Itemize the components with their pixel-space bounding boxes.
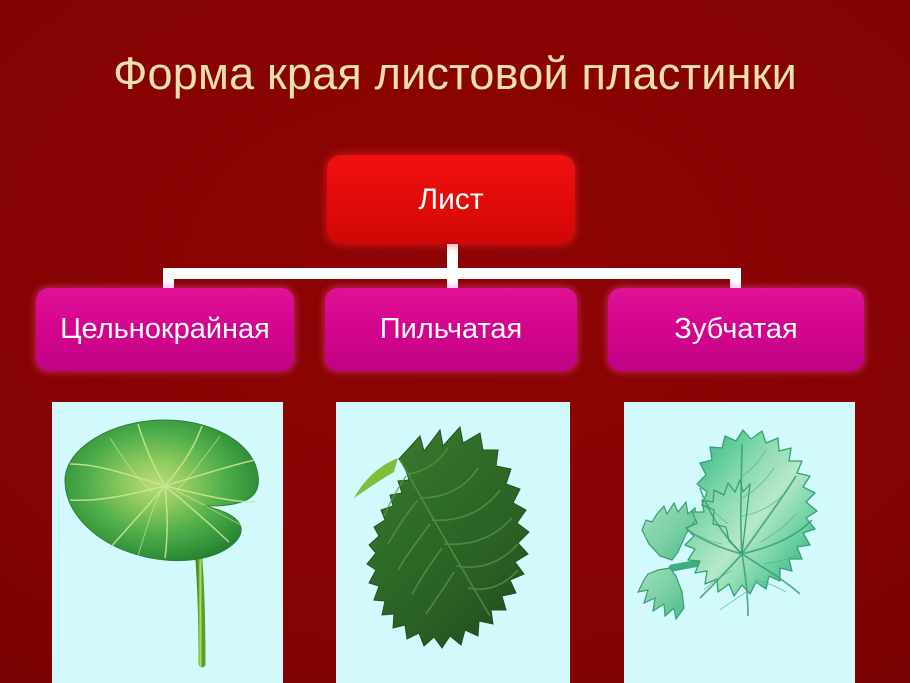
leaf-photo-dentate — [624, 402, 855, 683]
mallow-leaf-dentate-margin-image — [624, 402, 855, 683]
diagram-node-root[interactable]: Лист — [327, 155, 575, 244]
diagram-node-root-label: Лист — [418, 183, 483, 217]
leaf-photo-entire — [52, 402, 283, 683]
diagram-node-dentate-label: Зубчатая — [674, 313, 797, 346]
connector-stub-dentate — [730, 268, 741, 290]
connector-stub-entire — [163, 268, 174, 290]
diagram-node-serrate-label: Пильчатая — [380, 313, 523, 346]
connector-stub-serrate — [447, 268, 458, 290]
diagram-node-dentate[interactable]: Зубчатая — [608, 288, 864, 371]
diagram-node-entire[interactable]: Цельнокрайная — [36, 288, 294, 371]
page-title: Форма края листовой пластинки — [0, 48, 910, 100]
water-lily-pad-entire-margin-image — [52, 402, 283, 683]
nettle-leaf-serrate-margin-image — [336, 402, 570, 683]
diagram-node-entire-label: Цельнокрайная — [60, 313, 270, 346]
diagram-node-serrate[interactable]: Пильчатая — [325, 288, 577, 371]
leaf-photo-serrate — [336, 402, 570, 683]
slide-canvas: Форма края листовой пластинки Лист Цельн… — [0, 0, 910, 683]
